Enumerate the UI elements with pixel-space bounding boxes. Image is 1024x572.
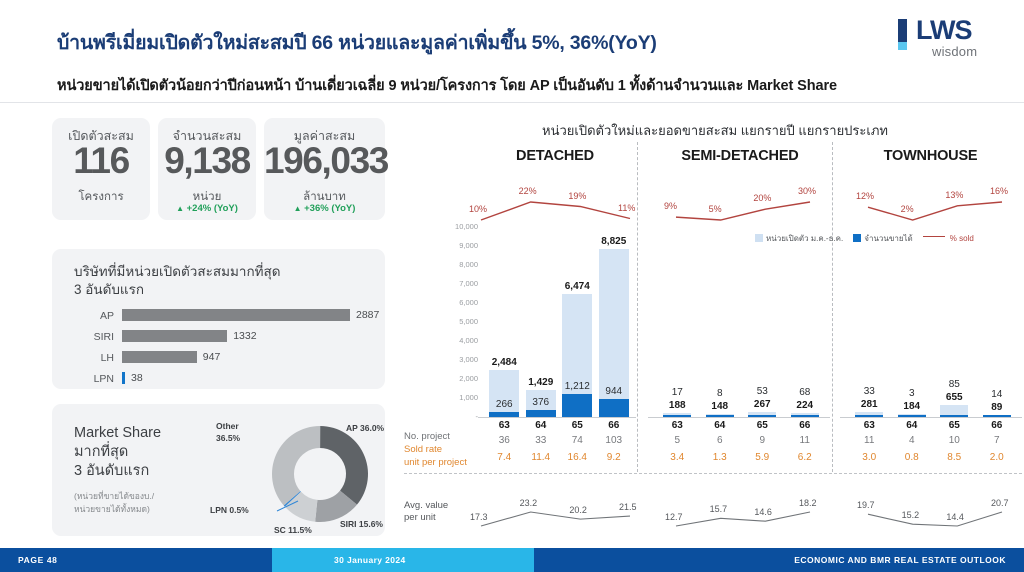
- company-bar-row: LH947: [74, 348, 369, 369]
- bar-column: [940, 405, 968, 417]
- table-cell-sold-rate: 11.4: [524, 452, 558, 463]
- plot-semi-detached: 1881714882675322468: [648, 222, 830, 418]
- avg-value-line-semi-detached: 12.715.714.618.2: [650, 492, 840, 530]
- y-axis-tick: 4,000: [459, 336, 478, 345]
- label-no-project: No. project: [404, 430, 484, 443]
- footer-title: ECONOMIC AND BMR REAL ESTATE OUTLOOK: [794, 555, 1006, 565]
- avg-value-label: 15.2: [902, 510, 920, 520]
- pct-sold-line-semi-detached: 9%5%20%30%: [650, 176, 840, 224]
- chart-title: หน่วยเปิดตัวใหม่และยอดขายสะสม แยกรายปี แ…: [410, 120, 1020, 141]
- pct-sold-svg: [455, 176, 660, 224]
- avg-value-path: [676, 512, 810, 526]
- avg-value-label: 23.2: [520, 498, 538, 508]
- pct-sold-line-detached: 10%22%19%11%: [455, 176, 660, 224]
- company-bar-row: LPN38: [74, 369, 369, 390]
- kpi-unit: โครงการ: [52, 188, 150, 206]
- table-cell-no-project: 33: [524, 435, 558, 446]
- avg-value-label: 20.2: [569, 505, 587, 515]
- bar-sold: [599, 399, 629, 417]
- label-avg-value: Avg. value per unit: [404, 500, 448, 524]
- slide-header: บ้านพรีเมี่ยมเปิดตัวใหม่สะสมปี 66 หน่วยแ…: [0, 0, 1024, 100]
- kpi-delta-text: +24% (YoY): [187, 203, 238, 214]
- pct-sold-path: [868, 202, 1002, 220]
- pct-sold-label: 11%: [618, 203, 635, 213]
- table-cell-sold-rate: 8.5: [937, 452, 971, 463]
- table-cell-year: 66: [597, 420, 631, 431]
- y-axis: 10,0009,0008,0007,0006,0005,0004,0003,00…: [430, 222, 478, 418]
- table-cell-year: 64: [895, 420, 929, 431]
- table-cell-year: 63: [487, 420, 521, 431]
- axis-baseline: [478, 417, 636, 418]
- bar-label-opened: 89: [967, 402, 1024, 413]
- table-cell-no-project: 11: [852, 435, 886, 446]
- company-bar: [122, 330, 227, 342]
- market-share-card: Market Share มากที่สุด 3 อันดับแรก (หน่ว…: [52, 404, 385, 536]
- table-cell-sold-rate: 0.8: [895, 452, 929, 463]
- avg-value-label: 20.7: [991, 498, 1009, 508]
- pct-sold-label: 20%: [753, 193, 771, 203]
- top-companies-card: บริษัทที่มีหน่วยเปิดตัวสะสมมากที่สุด 3 อ…: [52, 249, 385, 389]
- bar-sold: [748, 415, 776, 417]
- bar-column: [748, 412, 776, 417]
- company-value: 2887: [356, 309, 379, 321]
- table-cell-no-project: 6: [703, 435, 737, 446]
- company-bar: [122, 351, 197, 363]
- company-bar-row: AP2887: [74, 306, 369, 327]
- slide-root: บ้านพรีเมี่ยมเปิดตัวใหม่สะสมปี 66 หน่วยแ…: [0, 0, 1024, 572]
- company-name: LH: [74, 352, 114, 364]
- footer-page-number: PAGE 48: [18, 555, 57, 565]
- label-sold-rate-l2: unit per project: [404, 457, 467, 468]
- bar-label-sold: 14: [967, 389, 1024, 400]
- bar-label-opened: 8,825: [584, 236, 644, 247]
- avg-value-label: 15.7: [710, 504, 728, 514]
- axis-baseline: [648, 417, 830, 418]
- bar-column: [791, 413, 819, 417]
- logo-wordmark: LWS: [916, 15, 972, 46]
- kpi-card-value: มูลค่าสะสม 196,033 ล้านบาท ▲ +36% (YoY): [264, 118, 385, 220]
- pct-sold-label: 13%: [945, 190, 963, 200]
- pct-sold-label: 19%: [568, 191, 586, 201]
- avg-value-label: 14.6: [754, 507, 772, 517]
- plot-detached: 2,4842661,4293766,4741,2128,825944: [478, 222, 636, 418]
- pct-sold-line-townhouse: 12%2%13%16%: [842, 176, 1024, 224]
- pct-sold-path: [481, 202, 630, 220]
- bar-label-sold: 85: [924, 379, 984, 390]
- pct-sold-label: 9%: [664, 201, 677, 211]
- table-cell-year: 66: [980, 420, 1014, 431]
- y-axis-tick: 9,000: [459, 241, 478, 250]
- top-companies-bar-chart: AP2887SIRI1332LH947LPN38: [74, 306, 369, 390]
- avg-value-label: 18.2: [799, 498, 817, 508]
- slide-footer: PAGE 48 30 January 2024 ECONOMIC AND BMR…: [0, 548, 1024, 572]
- table-cell-no-project: 5: [660, 435, 694, 446]
- bar-sold: [526, 410, 556, 417]
- pct-sold-label: 16%: [990, 186, 1008, 196]
- table-cell-year: 65: [745, 420, 779, 431]
- axis-baseline: [840, 417, 1022, 418]
- y-axis-tick: 8,000: [459, 260, 478, 269]
- table-row-labels: No. project Sold rate unit per project: [404, 430, 484, 469]
- avg-value-path: [868, 512, 1002, 526]
- table-cell-year: 65: [937, 420, 971, 431]
- y-axis-tick: 7,000: [459, 279, 478, 288]
- donut-label-sc: SC 11.5%: [274, 524, 312, 536]
- bar-sold: [663, 415, 691, 417]
- table-cell-no-project: 9: [745, 435, 779, 446]
- panel-title-townhouse: TOWNHOUSE: [838, 148, 1023, 164]
- donut-label-ap: AP 36.0%: [346, 422, 384, 434]
- label-sold-rate: Sold rate unit per project: [404, 443, 484, 469]
- pct-sold-label: 5%: [709, 204, 722, 214]
- bar-label-sold: 944: [584, 386, 644, 397]
- top-companies-title: บริษัทที่มีหน่วยเปิดตัวสะสมมากที่สุด 3 อ…: [74, 263, 281, 299]
- table-cell-sold-rate: 3.0: [852, 452, 886, 463]
- header-divider: [0, 102, 1024, 103]
- company-bar: [122, 372, 125, 384]
- bar-column: [562, 294, 592, 417]
- y-axis-tick: 5,000: [459, 317, 478, 326]
- avg-value-label: 21.5: [619, 502, 637, 512]
- donut-slice-ap: [320, 426, 368, 505]
- table-cell-no-project: 36: [487, 435, 521, 446]
- note-line-2: หน่วยขายได้ทั้งหมด): [74, 504, 150, 514]
- company-bar: [122, 309, 350, 321]
- table-cell-no-project: 7: [980, 435, 1014, 446]
- donut-label-other: Other36.5%: [216, 420, 240, 444]
- avg-value-label: 19.7: [857, 500, 875, 510]
- logo-bar-accent-icon: [898, 42, 907, 50]
- avg-value-line-detached: 17.323.220.221.5: [455, 492, 660, 530]
- lws-logo: LWS wisdom: [890, 16, 1000, 62]
- bar-sold: [791, 415, 819, 417]
- title-line-1: Market Share: [74, 425, 161, 441]
- title-line-2: 3 อันดับแรก: [74, 282, 144, 297]
- pct-sold-label: 22%: [519, 186, 537, 196]
- kpi-value: 196,033: [264, 140, 385, 182]
- bar-sold: [940, 415, 968, 417]
- company-value: 947: [203, 351, 221, 363]
- kpi-delta: ▲ +36% (YoY): [264, 203, 385, 214]
- company-value: 38: [131, 372, 143, 384]
- pct-sold-svg: [650, 176, 840, 224]
- table-cell-sold-rate: 2.0: [980, 452, 1014, 463]
- kpi-delta-text: +36% (YoY): [304, 203, 355, 214]
- avg-value-line-townhouse: 19.715.214.420.7: [842, 492, 1024, 530]
- table-cell-sold-rate: 9.2: [597, 452, 631, 463]
- label-avg-value-l1: Avg. value: [404, 500, 448, 511]
- y-axis-tick: 2,000: [459, 374, 478, 383]
- kpi-card-projects: เปิดตัวสะสม 116 โครงการ: [52, 118, 150, 220]
- logo-tagline: wisdom: [932, 44, 977, 59]
- kpi-delta: ▲ +24% (YoY): [158, 203, 256, 214]
- bar-sold: [562, 394, 592, 417]
- plot-townhouse: 281331843655858914: [840, 222, 1022, 418]
- panel-title-detached: DETACHED: [460, 148, 650, 164]
- bar-label-sold: 68: [775, 387, 835, 398]
- title-line-2: มากที่สุด: [74, 444, 128, 460]
- company-value: 1332: [233, 330, 256, 342]
- table-cell-year: 63: [660, 420, 694, 431]
- bar-column: [983, 415, 1011, 417]
- table-cell-year: 64: [703, 420, 737, 431]
- donut-slice-other: [272, 426, 320, 506]
- title-line-1: บริษัทที่มีหน่วยเปิดตัวสะสมมากที่สุด: [74, 264, 281, 279]
- bar-sold: [489, 412, 519, 417]
- bar-sold: [898, 415, 926, 417]
- bar-sold: [706, 415, 734, 417]
- table-cell-no-project: 11: [788, 435, 822, 446]
- bar-sold: [983, 415, 1011, 417]
- table-cell-year: 66: [788, 420, 822, 431]
- bar-column: [898, 414, 926, 417]
- table-cell-year: 64: [524, 420, 558, 431]
- y-axis-tick: 6,000: [459, 298, 478, 307]
- title-line-3: 3 อันดับแรก: [74, 463, 149, 479]
- bar-label-opened: 2,484: [474, 357, 534, 368]
- bar-column: [706, 414, 734, 417]
- pct-sold-path: [676, 202, 810, 220]
- pct-sold-label: 2%: [901, 204, 914, 214]
- market-share-note: (หน่วยที่ขายได้ของบ./ หน่วยขายได้ทั้งหมด…: [74, 490, 154, 516]
- label-avg-value-l2: per unit: [404, 512, 436, 523]
- table-cell-no-project: 4: [895, 435, 929, 446]
- table-cell-sold-rate: 5.9: [745, 452, 779, 463]
- kpi-card-units: จำนวนสะสม 9,138 หน่วย ▲ +24% (YoY): [158, 118, 256, 220]
- avg-value-label: 12.7: [665, 512, 683, 522]
- bar-column: [663, 413, 691, 417]
- panel-title-semi-detached: SEMI-DETACHED: [645, 148, 835, 164]
- table-cell-year: 65: [560, 420, 594, 431]
- pct-sold-label: 10%: [469, 204, 487, 214]
- table-cell-sold-rate: 6.2: [788, 452, 822, 463]
- kpi-value: 9,138: [158, 140, 256, 182]
- bar-column: [855, 412, 883, 417]
- triangle-up-icon: ▲: [294, 204, 302, 213]
- kpi-value: 116: [52, 140, 150, 182]
- table-cell-sold-rate: 1.3: [703, 452, 737, 463]
- avg-value-path: [481, 512, 630, 526]
- table-cell-no-project: 74: [560, 435, 594, 446]
- donut-label-lpn: LPN 0.5%: [210, 504, 249, 516]
- table-cell-no-project: 103: [597, 435, 631, 446]
- bar-sold: [855, 415, 883, 417]
- market-share-title: Market Share มากที่สุด 3 อันดับแรก: [74, 424, 161, 481]
- table-cell-sold-rate: 16.4: [560, 452, 594, 463]
- donut-label-siri: SIRI 15.6%: [340, 518, 383, 530]
- page-subtitle: หน่วยขายได้เปิดตัวน้อยกว่าปีก่อนหน้า บ้า…: [57, 74, 837, 97]
- table-cell-year: 63: [852, 420, 886, 431]
- market-share-donut: AP 36.0%SIRI 15.6%SC 11.5%LPN 0.5%Other3…: [220, 414, 380, 534]
- page-title: บ้านพรีเมี่ยมเปิดตัวใหม่สะสมปี 66 หน่วยแ…: [57, 27, 657, 58]
- label-sold-rate-l1: Sold rate: [404, 444, 442, 455]
- footer-date: 30 January 2024: [334, 555, 406, 565]
- company-name: SIRI: [74, 331, 114, 343]
- table-cell-no-project: 10: [937, 435, 971, 446]
- pct-sold-label: 12%: [856, 191, 874, 201]
- table-cell-sold-rate: 7.4: [487, 452, 521, 463]
- company-name: AP: [74, 310, 114, 322]
- table-cell-sold-rate: 3.4: [660, 452, 694, 463]
- avg-value-label: 17.3: [470, 512, 488, 522]
- triangle-up-icon: ▲: [176, 204, 184, 213]
- pct-sold-label: 30%: [798, 186, 816, 196]
- company-name: LPN: [74, 373, 114, 385]
- avg-value-label: 14.4: [946, 512, 964, 522]
- company-bar-row: SIRI1332: [74, 327, 369, 348]
- table-divider: [404, 473, 1022, 474]
- bar-label-opened: 224: [775, 400, 835, 411]
- note-line-1: (หน่วยที่ขายได้ของบ./: [74, 491, 154, 501]
